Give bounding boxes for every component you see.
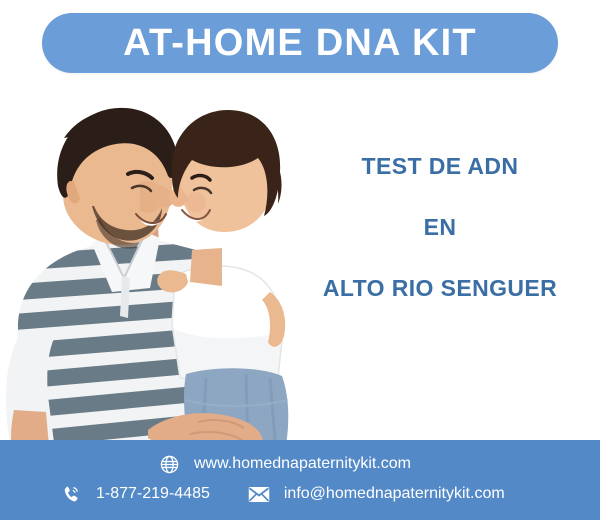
header-banner: AT-HOME DNA KIT [42,13,558,73]
phone-icon [60,483,82,505]
poster-canvas: AT-HOME DNA KIT [0,0,600,520]
family-photo [0,78,330,458]
page-title: AT-HOME DNA KIT [123,24,477,62]
phone-label: 1-877-219-4485 [96,486,210,502]
headline-block: TEST DE ADN EN ALTO RIO SENGUER [300,155,580,300]
website-row[interactable]: www.homednapaternitykit.com [158,453,411,475]
envelope-icon [248,483,270,505]
headline-line-3: ALTO RIO SENGUER [300,277,580,300]
contact-row: 1-877-219-4485 info@homednapaternitykit.… [60,483,505,505]
headline-line-2: EN [300,216,580,239]
website-label: www.homednapaternitykit.com [194,456,411,472]
globe-icon [158,453,180,475]
contact-footer: www.homednapaternitykit.com 1-877-219-44… [0,440,600,520]
email-label: info@homednapaternitykit.com [284,486,505,502]
headline-line-1: TEST DE ADN [300,155,580,178]
family-photo-illustration [0,78,330,458]
